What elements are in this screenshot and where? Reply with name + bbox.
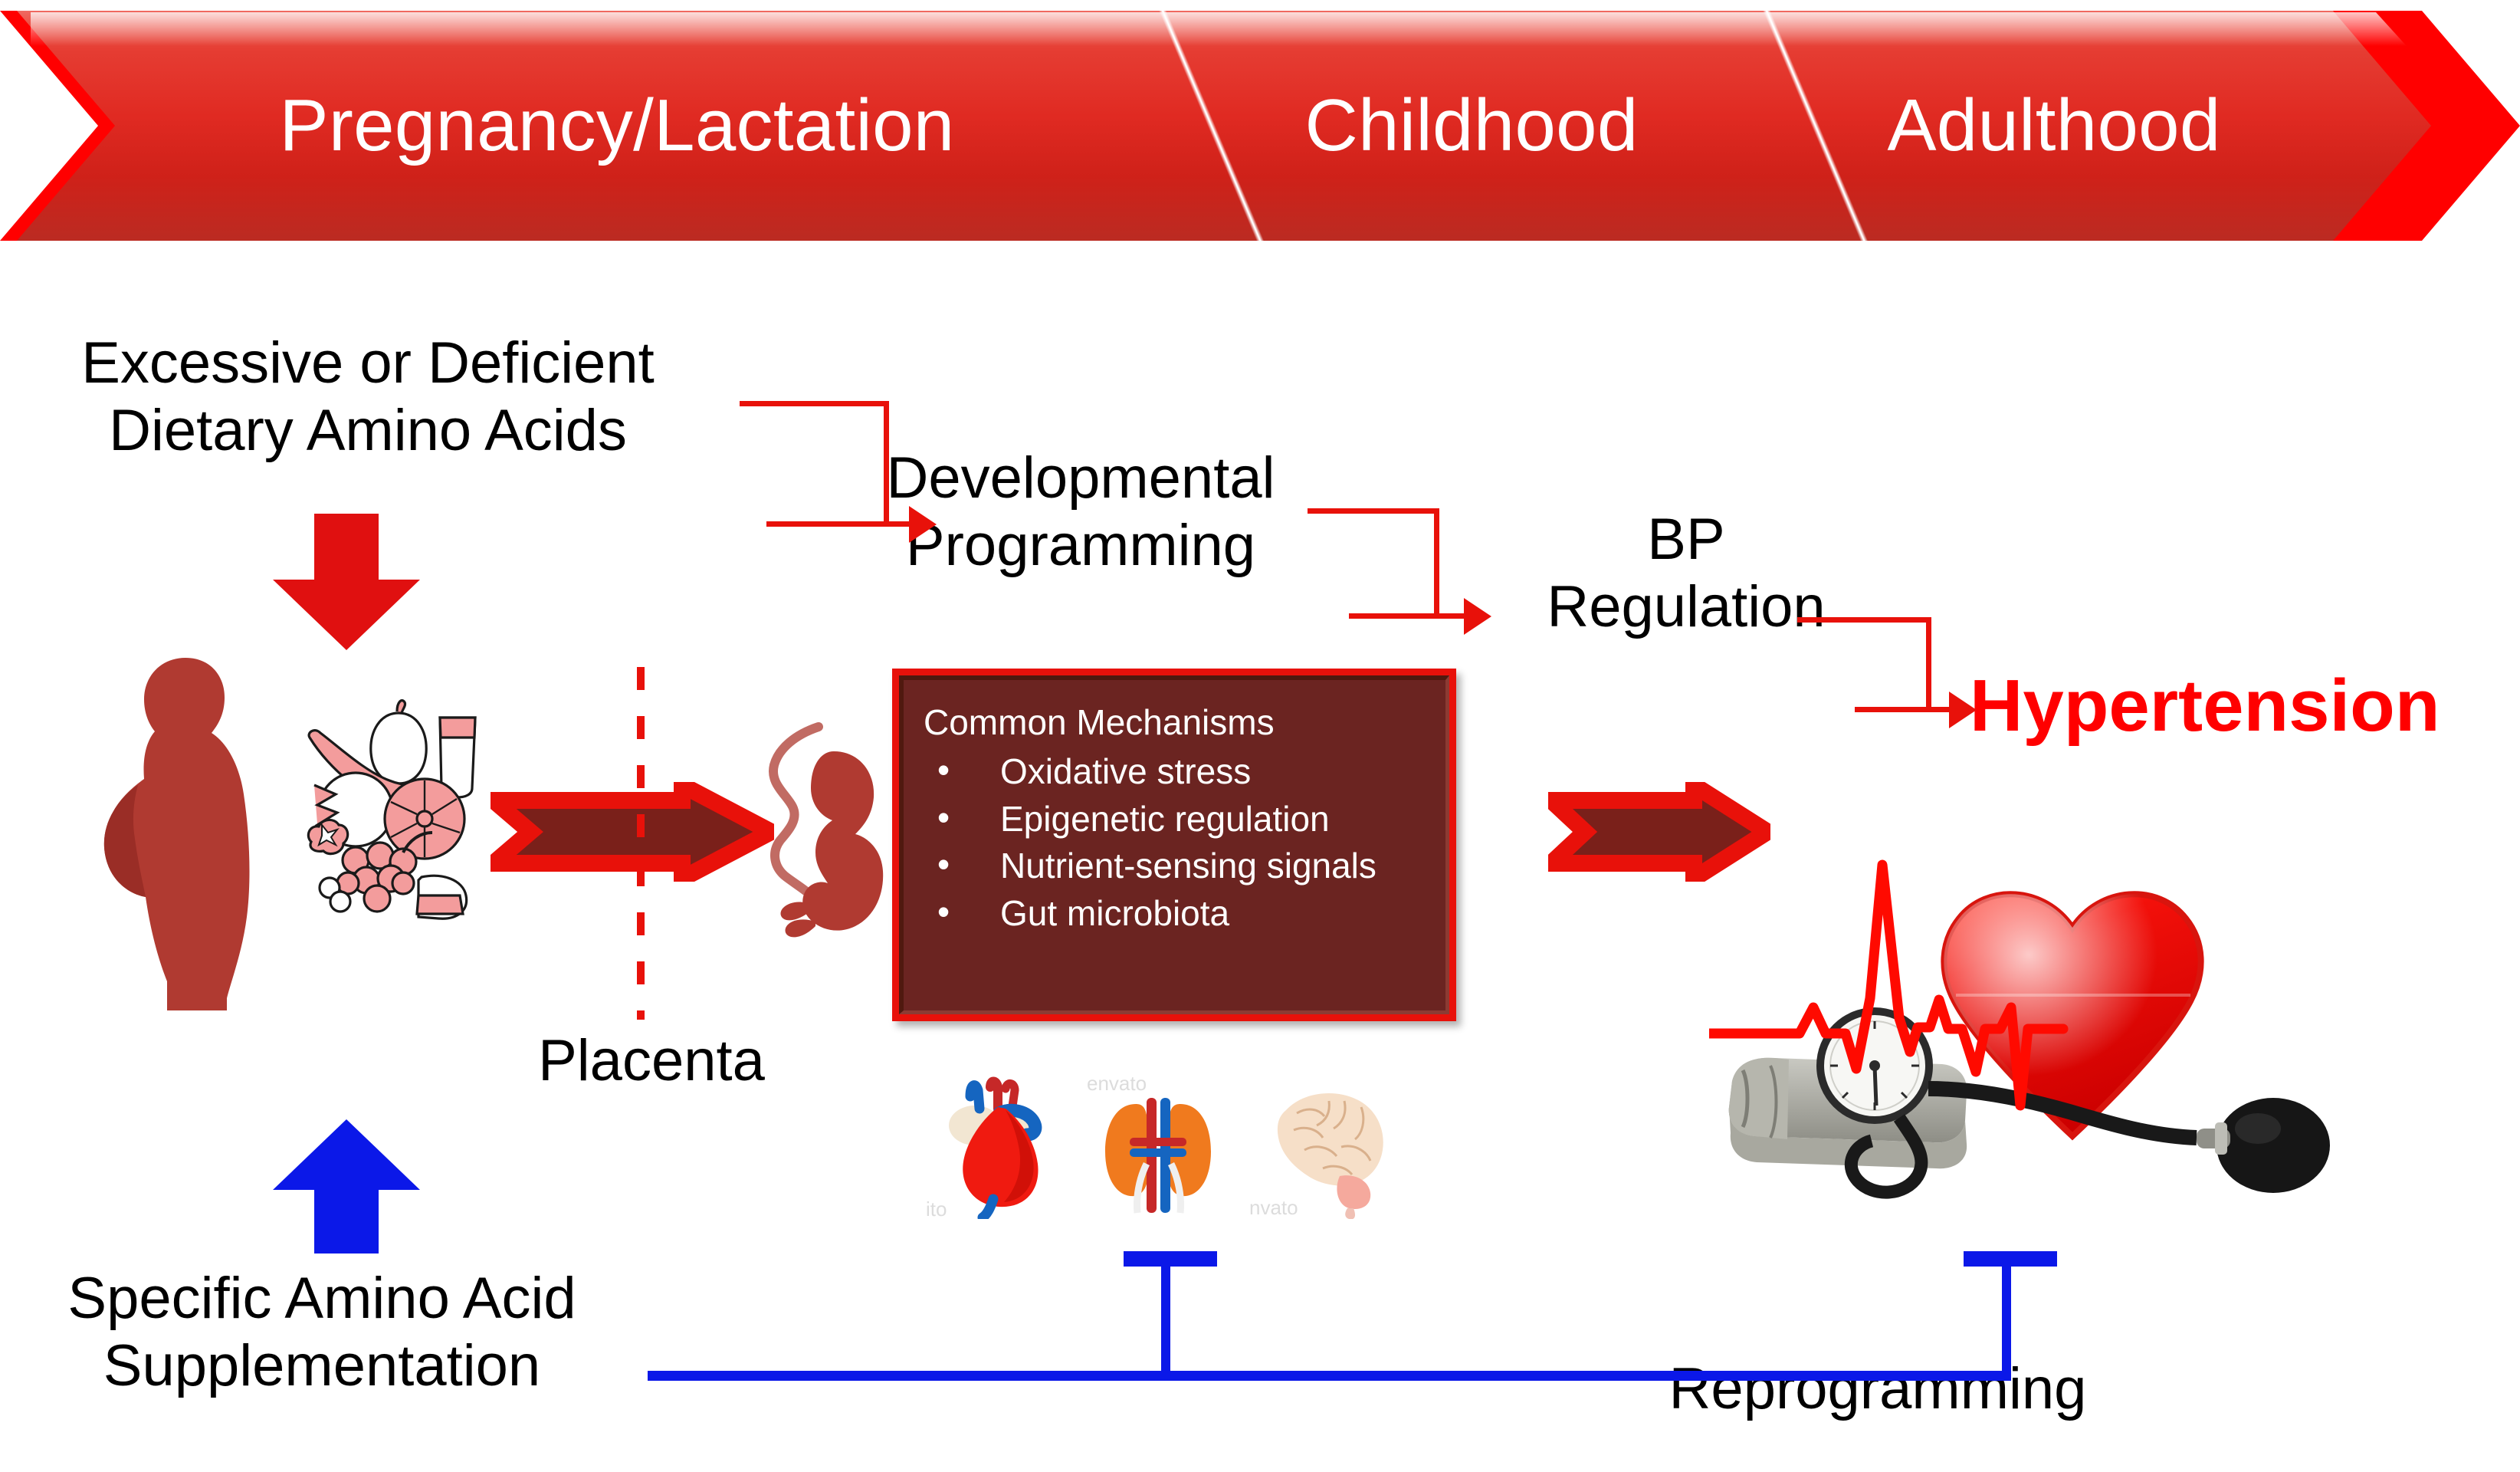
healthy-food-group-illustration — [282, 690, 489, 920]
common-mechanisms-inner: Common Mechanisms Oxidative stress Epige… — [899, 675, 1449, 1014]
reprogramming-bracket-riser-right — [2002, 1257, 2011, 1380]
common-mechanisms-box: Common Mechanisms Oxidative stress Epige… — [892, 669, 1456, 1021]
red-down-arrow — [270, 514, 423, 652]
fetus-with-umbilical-cord — [736, 721, 897, 966]
inflation-bulb — [2197, 1098, 2330, 1193]
mechanism-item: Nutrient-sensing signals — [924, 843, 1429, 889]
reprogramming-bracket-base — [648, 1371, 2011, 1381]
kidneys-organ-icon: envato — [1085, 1067, 1231, 1221]
svg-text:ito: ito — [926, 1198, 947, 1219]
svg-text:nvato: nvato — [1249, 1196, 1298, 1219]
timeline-stage-adulthood[interactable]: Adulthood — [1809, 11, 2299, 241]
connector-1-arrowhead — [909, 506, 937, 543]
heart-organ-icon: ito — [926, 1073, 1064, 1219]
common-mechanisms-title: Common Mechanisms — [924, 700, 1429, 746]
connector-2-segment-h1 — [1308, 508, 1439, 514]
connector-2-segment-v — [1434, 508, 1439, 616]
mechanism-item: Gut microbiota — [924, 891, 1429, 937]
connector-2-segment-h2 — [1349, 613, 1468, 619]
timeline-stage-pregnancy-lactation[interactable]: Pregnancy/Lactation — [130, 11, 1104, 241]
common-mechanisms-list: Oxidative stress Epigenetic regulation N… — [924, 749, 1429, 937]
blood-pressure-monitor-and-heart — [1709, 836, 2376, 1280]
mechanism-item: Oxidative stress — [924, 749, 1429, 795]
connector-2-arrowhead — [1464, 598, 1491, 635]
placenta-label: Placenta — [506, 1027, 797, 1095]
reprogramming-label: Reprogramming — [1625, 1355, 2131, 1423]
block-arrow-mother-to-fetus — [491, 782, 774, 882]
placenta-divider-dashed-line — [633, 667, 648, 1020]
svg-text:envato: envato — [1087, 1072, 1147, 1095]
timeline-stage-childhood[interactable]: Childhood — [1226, 11, 1717, 241]
connector-3-segment-h2 — [1855, 707, 1953, 712]
timeline-banner: Pregnancy/Lactation Childhood Adulthood — [0, 11, 2520, 241]
connector-3-arrowhead — [1949, 692, 1977, 728]
connector-1-segment-v — [884, 401, 889, 524]
dietary-amino-acids-label: Excessive or Deficient Dietary Amino Aci… — [46, 330, 690, 465]
pregnant-woman-silhouette — [69, 652, 291, 1012]
connector-1-segment-h2 — [766, 521, 912, 527]
supplementation-label: Specific Amino Acid Supplementation — [31, 1265, 613, 1400]
connector-1-segment-h1 — [740, 401, 889, 406]
connector-3-segment-h1 — [1797, 617, 1931, 623]
reprogramming-bracket-riser-left — [1161, 1257, 1170, 1380]
connector-3-segment-v — [1926, 617, 1931, 709]
brain-organ-icon: nvato — [1249, 1073, 1391, 1219]
hypertension-label: Hypertension — [1970, 664, 2440, 748]
reprogramming-bracket-cap-left — [1124, 1251, 1217, 1267]
mechanism-item: Epigenetic regulation — [924, 797, 1429, 843]
blue-up-arrow — [270, 1119, 423, 1253]
